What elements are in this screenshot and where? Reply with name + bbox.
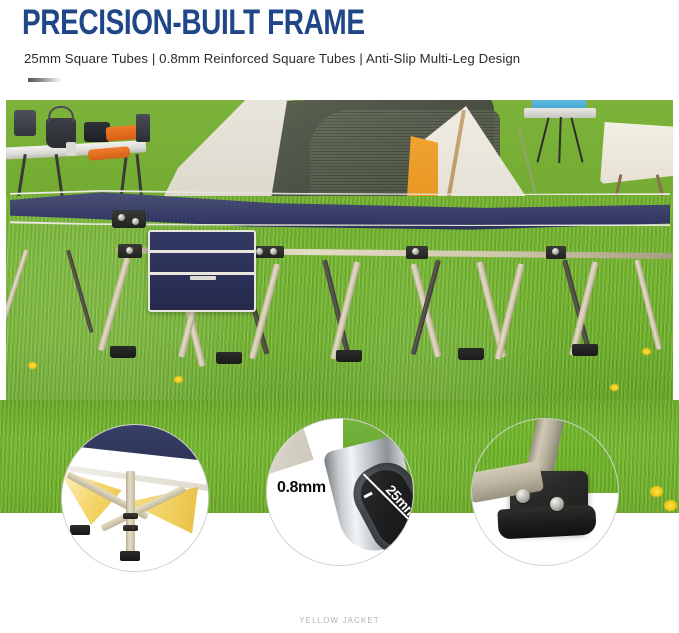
header: PRECISION-BUILT FRAME 25mm Square Tubes … xyxy=(0,0,679,100)
detail-callout-strip: 25mm 0.8mm xyxy=(0,400,679,633)
anti-slip-foot-base xyxy=(497,504,596,539)
cot-rivet xyxy=(552,248,559,255)
frame-foot xyxy=(70,525,90,535)
wildflower xyxy=(650,486,663,497)
pocket-tab xyxy=(190,276,216,280)
cot-leg xyxy=(98,257,131,351)
cot-foot xyxy=(336,350,362,362)
cot-rivet xyxy=(118,214,125,221)
cot-leg xyxy=(6,249,29,330)
watermark: YELLOW JACKET xyxy=(0,616,679,625)
cot-foot xyxy=(110,346,136,358)
cot-rivet xyxy=(126,247,133,254)
wildflower xyxy=(174,376,183,383)
accent-bar xyxy=(28,78,62,82)
cot-foot xyxy=(458,348,484,360)
page-subtitle: 25mm Square Tubes | 0.8mm Reinforced Squ… xyxy=(24,51,520,66)
page-title: PRECISION-BUILT FRAME xyxy=(22,4,365,42)
foot-rivet xyxy=(516,489,530,503)
frame-foot xyxy=(120,551,140,561)
cot-leg xyxy=(634,259,662,350)
product-infographic: PRECISION-BUILT FRAME 25mm Square Tubes … xyxy=(0,0,679,633)
wildflower xyxy=(28,362,37,369)
cot-leg xyxy=(66,249,94,333)
wildflower xyxy=(664,500,677,511)
cot-foot xyxy=(572,344,598,356)
wildflower xyxy=(610,384,619,391)
cot-rivet xyxy=(132,218,139,225)
foot-rivet xyxy=(550,497,564,511)
cot-foot xyxy=(216,352,242,364)
tube-thickness-label: 0.8mm xyxy=(277,479,326,497)
cot-rivet xyxy=(270,248,277,255)
cot-rivet xyxy=(256,248,263,255)
cot-pivot-hardware xyxy=(112,210,146,228)
callout-tube-spec: 25mm 0.8mm xyxy=(266,418,414,566)
cot-rivet xyxy=(412,248,419,255)
post-collar xyxy=(123,513,138,519)
pocket-band xyxy=(150,250,254,253)
callout-antislip-foot xyxy=(471,418,619,566)
side-organizer-pocket xyxy=(148,230,256,312)
cot-leg xyxy=(494,263,525,360)
camping-cot xyxy=(6,100,673,400)
callout-frame-joint xyxy=(61,424,209,572)
wildflower xyxy=(642,348,651,355)
post-collar xyxy=(123,525,138,531)
pocket-band xyxy=(150,272,254,275)
main-product-photo xyxy=(6,100,673,400)
